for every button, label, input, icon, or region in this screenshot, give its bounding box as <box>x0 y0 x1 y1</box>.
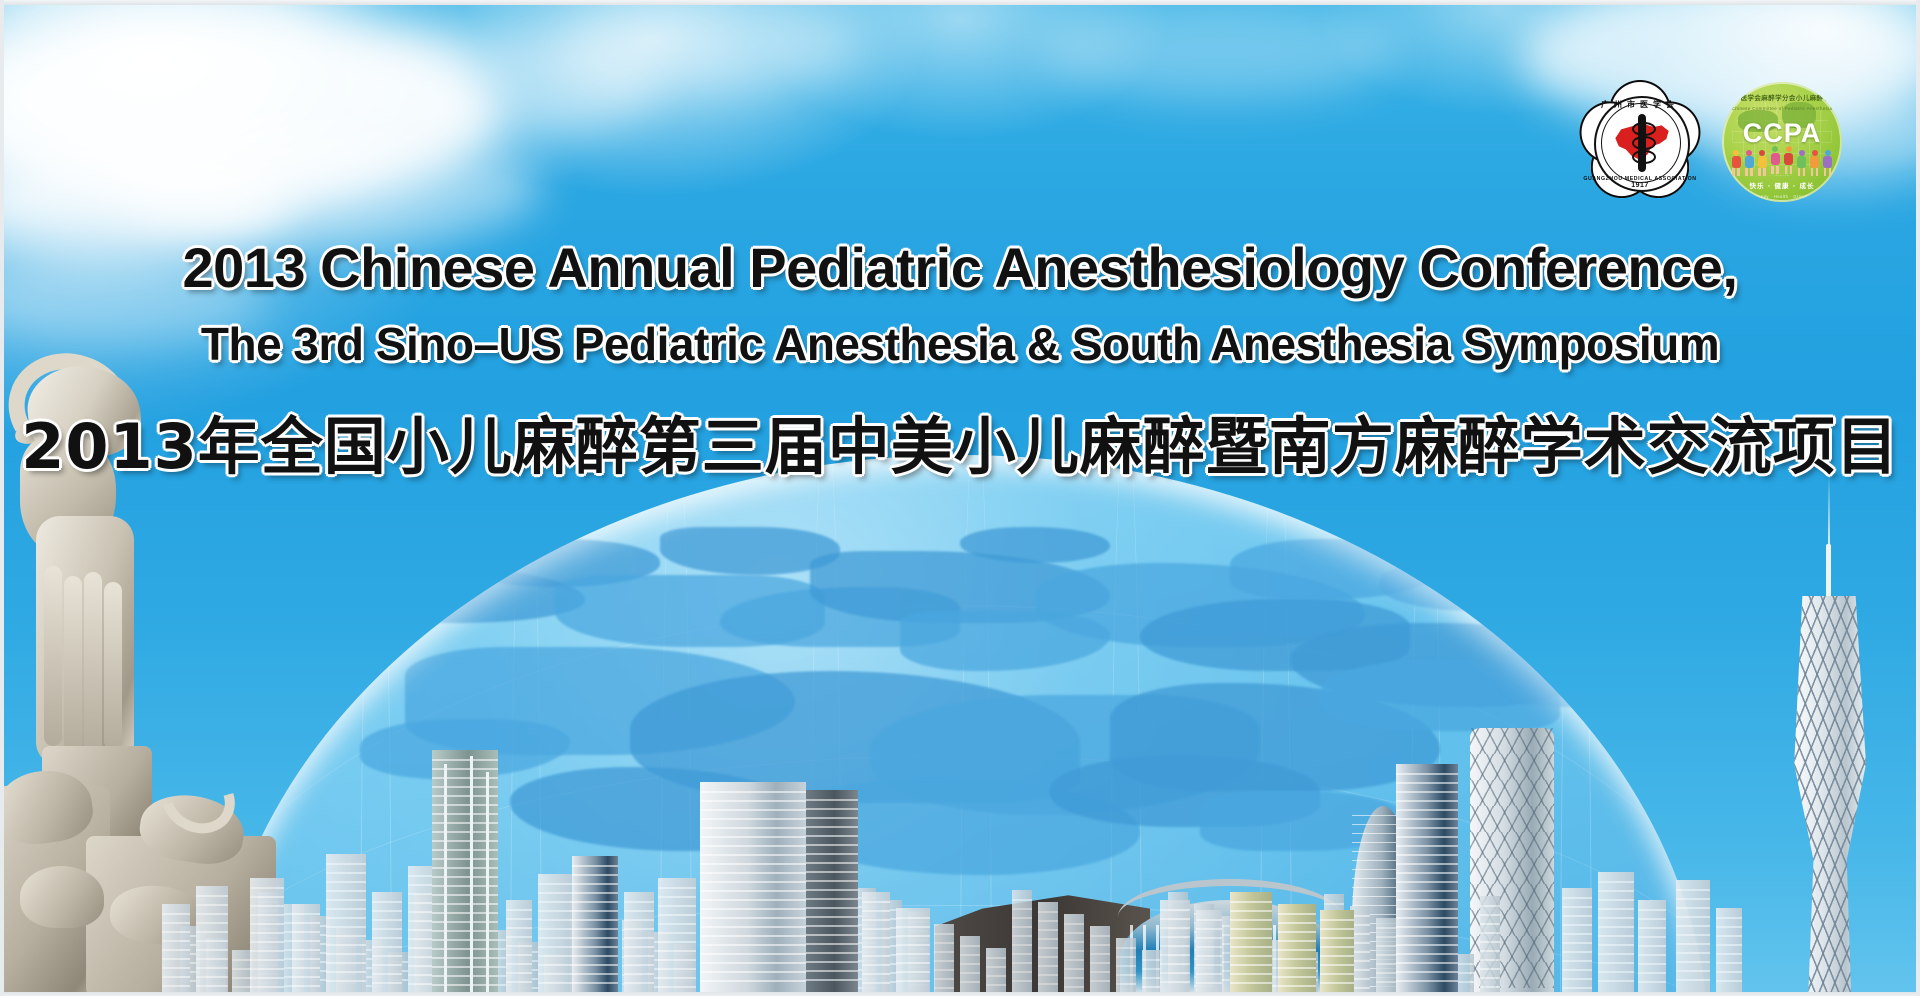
building-window-band <box>538 892 572 894</box>
building-window-band <box>196 976 228 978</box>
building-window-band <box>432 759 498 761</box>
building-window-band <box>232 968 252 970</box>
building-window-band <box>700 863 806 865</box>
building-window-band <box>1320 919 1354 921</box>
building-window-band <box>1638 954 1666 956</box>
building-window-band <box>1396 836 1458 838</box>
building-window-band <box>700 827 806 829</box>
building-window-band <box>1396 872 1458 874</box>
building-window-band <box>896 980 930 982</box>
building-window-band <box>896 944 930 946</box>
building-window-band <box>250 968 284 970</box>
building-window-band <box>1638 936 1666 938</box>
building-window-band <box>658 968 696 970</box>
building-window-band <box>1676 979 1710 981</box>
building-window-band <box>326 980 366 982</box>
building-window-band <box>572 973 618 975</box>
skyline-building <box>1598 872 1634 996</box>
building-window-band <box>806 889 858 891</box>
building-window-band <box>1396 818 1458 820</box>
small-ram <box>20 866 104 928</box>
building-window-band <box>896 935 930 937</box>
building-window-band <box>538 937 572 939</box>
building-window-band <box>1598 881 1634 883</box>
skyline-building <box>538 874 572 996</box>
building-window-band <box>572 982 618 984</box>
child-leg <box>1790 166 1793 174</box>
building-window-band <box>1230 919 1272 921</box>
building-window-band <box>658 977 696 979</box>
building-window-band <box>538 928 572 930</box>
building-window-band <box>1598 899 1634 901</box>
building-window-band <box>1142 968 1162 970</box>
building-window-band <box>1598 926 1634 928</box>
building-antenna <box>444 764 447 996</box>
building-window-band <box>372 964 402 966</box>
canton-tower-body <box>1792 596 1866 996</box>
skyline-building <box>960 936 980 996</box>
building-window-band <box>326 872 366 874</box>
building-window-band <box>986 957 1006 959</box>
building-window-band <box>862 910 890 912</box>
globe-continent <box>660 527 840 575</box>
building-window-band <box>1196 955 1222 957</box>
building-window-band <box>506 963 532 965</box>
building-window-band <box>862 964 890 966</box>
building-window-band <box>700 854 806 856</box>
building-window-band <box>1230 937 1272 939</box>
skyline-building <box>986 948 1006 996</box>
ifc-lattice-band <box>1470 754 1554 780</box>
building-window-band <box>232 959 252 961</box>
building-window-band <box>538 919 572 921</box>
building-window-band <box>1038 965 1058 967</box>
building-window-band <box>326 908 366 910</box>
building-window-band <box>538 973 572 975</box>
building-window-band <box>196 922 228 924</box>
building-window-band <box>862 928 890 930</box>
building-window-band <box>572 937 618 939</box>
child-body <box>1758 156 1767 168</box>
skyline-building <box>1090 926 1110 996</box>
children-holding-hands-icon <box>1730 146 1834 176</box>
building-window-band <box>1160 972 1190 974</box>
child-leg <box>1750 168 1753 176</box>
building-window-band <box>806 835 858 837</box>
building-window-band <box>658 941 696 943</box>
building-window-band <box>506 936 532 938</box>
building-window-band <box>1230 955 1272 957</box>
canton-tower-mast <box>1826 544 1831 604</box>
building-window-band <box>292 976 320 978</box>
building-window-band <box>1598 971 1634 973</box>
building-window-band <box>806 925 858 927</box>
child-body <box>1745 156 1754 168</box>
building-window-band <box>806 853 858 855</box>
building-window-band <box>1038 911 1058 913</box>
building-window-band <box>986 975 1006 977</box>
ram-fleece <box>64 576 82 751</box>
building-window-band <box>1396 773 1458 775</box>
building-window-band <box>934 969 954 971</box>
skyline-building <box>896 908 930 996</box>
building-window-band <box>1196 937 1222 939</box>
ifc-lattice-band <box>1470 728 1554 754</box>
child-figure <box>1769 146 1781 176</box>
building-window-band <box>1396 863 1458 865</box>
skyline-building <box>700 782 806 996</box>
building-window-band <box>1562 924 1592 926</box>
building-window-band <box>1562 933 1592 935</box>
skyline-building <box>1376 918 1396 996</box>
building-window-band <box>1160 927 1190 929</box>
building-window-band <box>1480 914 1500 916</box>
building-window-band <box>250 914 284 916</box>
building-window-band <box>658 986 696 988</box>
building-window-band <box>538 910 572 912</box>
building-window-band <box>250 923 284 925</box>
building-window-band <box>250 986 284 988</box>
building-window-band <box>1638 927 1666 929</box>
building-window-band <box>700 890 806 892</box>
building-window-band <box>1196 946 1222 948</box>
building-window-band <box>1396 944 1458 946</box>
building-window-band <box>1142 959 1162 961</box>
building-window-band <box>700 800 806 802</box>
ccpa-slogan-chinese: 快乐 · 健康 · 成长 <box>1722 180 1842 190</box>
building-window-band <box>1480 959 1500 961</box>
banner-left-edge <box>0 0 4 996</box>
building-window-band <box>1090 944 1110 946</box>
building-window-band <box>700 971 806 973</box>
building-window-band <box>624 973 654 975</box>
skyline-building <box>506 900 532 996</box>
building-window-band <box>1376 981 1396 983</box>
building-window-band <box>1196 919 1222 921</box>
building-window-band <box>934 942 954 944</box>
banner-top-edge <box>0 0 1920 5</box>
building-window-band <box>896 953 930 955</box>
building-window-band <box>1638 909 1666 911</box>
building-window-band <box>1064 986 1084 988</box>
building-window-band <box>862 901 890 903</box>
building-window-band <box>658 923 696 925</box>
skyline-building <box>1196 910 1222 996</box>
conference-title-english-line2: The 3rd Sino–US Pediatric Anesthesia & S… <box>0 318 1920 370</box>
building-window-band <box>1038 956 1058 958</box>
building-window-band <box>896 962 930 964</box>
child-leg <box>1811 168 1814 176</box>
building-window-band <box>1676 916 1710 918</box>
building-window-band <box>700 980 806 982</box>
building-window-band <box>1396 908 1458 910</box>
building-window-band <box>1116 983 1136 985</box>
building-window-band <box>250 959 284 961</box>
building-window-band <box>700 917 806 919</box>
building-window-band <box>1090 980 1110 982</box>
building-window-band <box>326 926 366 928</box>
building-window-band <box>1230 928 1272 930</box>
building-window-band <box>658 914 696 916</box>
conference-title-chinese: 2013年全国小儿麻醉第三届中美小儿麻醉暨南方麻醉学术交流项目 <box>0 412 1920 482</box>
building-window-band <box>1598 908 1634 910</box>
globe-continent <box>555 575 825 647</box>
building-window-band <box>806 880 858 882</box>
building-window-band <box>326 890 366 892</box>
globe-continent <box>1140 599 1410 671</box>
canton-tower <box>1768 526 1888 996</box>
building-window-band <box>326 899 366 901</box>
building-window-band <box>1142 977 1162 979</box>
skyline-building <box>862 892 890 996</box>
child-body <box>1771 153 1780 165</box>
building-window-band <box>162 940 190 942</box>
building-window-band <box>572 883 618 885</box>
building-window-band <box>700 881 806 883</box>
building-window-band <box>1562 897 1592 899</box>
building-window-band <box>1480 905 1500 907</box>
building-window-band <box>1376 972 1396 974</box>
building-window-band <box>862 973 890 975</box>
building-window-band <box>1064 959 1084 961</box>
skyline-building <box>1480 896 1500 996</box>
building-window-band <box>1716 980 1742 982</box>
building-window-band <box>1012 971 1032 973</box>
building-window-band <box>538 964 572 966</box>
building-window-band <box>700 872 806 874</box>
skyline-building <box>1064 914 1084 996</box>
building-window-band <box>1376 927 1396 929</box>
building-window-band <box>1012 917 1032 919</box>
building-window-band <box>250 941 284 943</box>
building-window-band <box>572 955 618 957</box>
building-window-band <box>1196 982 1222 984</box>
building-window-band <box>292 931 320 933</box>
logo-inner-circle <box>1601 103 1681 183</box>
building-window-band <box>700 935 806 937</box>
building-window-band <box>960 954 980 956</box>
building-window-band <box>1638 945 1666 947</box>
building-window-band <box>1562 906 1592 908</box>
building-window-band <box>1396 971 1458 973</box>
child-figure <box>1822 150 1834 176</box>
building-window-band <box>1598 917 1634 919</box>
building-window-band <box>1064 923 1084 925</box>
building-window-band <box>934 978 954 980</box>
building-window-band <box>960 972 980 974</box>
building-window-band <box>1376 954 1396 956</box>
building-window-band <box>538 982 572 984</box>
building-window-band <box>196 940 228 942</box>
building-window-band <box>658 905 696 907</box>
building-window-band <box>1562 951 1592 953</box>
building-window-band <box>700 899 806 901</box>
building-window-band <box>1480 950 1500 952</box>
building-window-band <box>1396 845 1458 847</box>
skyline-building <box>1278 904 1316 996</box>
building-window-band <box>700 845 806 847</box>
globe-continent <box>810 551 1110 623</box>
child-head <box>1786 146 1792 152</box>
building-window-band <box>506 927 532 929</box>
building-window-band <box>700 953 806 955</box>
building-window-band <box>372 910 402 912</box>
building-window-band <box>196 967 228 969</box>
building-window-band <box>1598 953 1634 955</box>
building-window-band <box>1278 940 1316 942</box>
building-window-band <box>1480 986 1500 988</box>
building-window-band <box>162 931 190 933</box>
skyline-building <box>1142 950 1162 996</box>
skyline-building <box>1638 900 1666 996</box>
building-window-band <box>1562 978 1592 980</box>
building-window-band <box>1320 964 1354 966</box>
building-window-band <box>162 913 190 915</box>
building-window-band <box>1638 981 1666 983</box>
building-window-band <box>1116 974 1136 976</box>
building-window-band <box>1160 936 1190 938</box>
gma-name-chinese: 广州市医学会 <box>1580 99 1700 110</box>
building-window-band <box>196 949 228 951</box>
building-window-band <box>572 910 618 912</box>
skyline-building <box>326 854 366 996</box>
building-window-band <box>806 934 858 936</box>
ram-fleece <box>84 572 102 752</box>
ccpa-logo: 中华医学会麻醉学分会小儿麻醉学组 Chinese Committee of Pe… <box>1722 82 1842 202</box>
building-window-band <box>1480 968 1500 970</box>
building-window-band <box>1598 962 1634 964</box>
building-window-band <box>326 881 366 883</box>
building-window-band <box>934 933 954 935</box>
building-window-band <box>292 967 320 969</box>
child-leg <box>1816 168 1819 176</box>
ifc-lattice-band <box>1470 806 1554 832</box>
building-window-band <box>1230 946 1272 948</box>
building-window-band <box>1716 926 1742 928</box>
building-window-band <box>986 984 1006 986</box>
building-window-band <box>806 907 858 909</box>
building-window-band <box>1396 809 1458 811</box>
building-window-band <box>1676 889 1710 891</box>
child-body <box>1823 156 1832 168</box>
building-window-band <box>1278 967 1316 969</box>
building-antenna <box>486 772 489 996</box>
building-window-band <box>1598 980 1634 982</box>
skyline-building <box>1562 888 1592 996</box>
child-figure <box>1783 146 1795 176</box>
building-window-band <box>1396 800 1458 802</box>
building-window-band <box>1562 915 1592 917</box>
building-window-band <box>658 959 696 961</box>
building-window-band <box>1012 953 1032 955</box>
building-window-band <box>1320 955 1354 957</box>
child-leg <box>1763 168 1766 176</box>
building-window-band <box>1376 936 1396 938</box>
building-window-band <box>806 817 858 819</box>
building-window-band <box>1142 986 1162 988</box>
building-window-band <box>806 952 858 954</box>
building-window-band <box>806 844 858 846</box>
building-window-band <box>624 964 654 966</box>
ccpa-slogan-english: Happy · Health · Growth <box>1722 194 1842 199</box>
building-window-band <box>196 904 228 906</box>
skyline-building <box>658 878 696 996</box>
skyline-building <box>572 856 618 996</box>
building-window-band <box>1116 956 1136 958</box>
building-window-band <box>896 971 930 973</box>
building-window-band <box>1716 953 1742 955</box>
child-figure <box>1730 150 1742 176</box>
gma-name-english: GUANGZHOU MEDICAL ASSOCIATION <box>1580 176 1700 182</box>
building-window-band <box>806 808 858 810</box>
building-window-band <box>1230 901 1272 903</box>
building-window-band <box>572 928 618 930</box>
building-window-band <box>326 863 366 865</box>
building-window-band <box>658 887 696 889</box>
building-window-band <box>1064 977 1084 979</box>
child-body <box>1810 156 1819 168</box>
building-window-band <box>1038 947 1058 949</box>
building-window-band <box>1230 910 1272 912</box>
globe-continent <box>1035 563 1365 647</box>
building-window-band <box>326 971 366 973</box>
building-window-band <box>700 791 806 793</box>
building-window-band <box>1278 976 1316 978</box>
building-window-band <box>326 953 366 955</box>
ccpa-name-chinese: 中华医学会麻醉学分会小儿麻醉学组 <box>1722 92 1842 102</box>
building-window-band <box>1676 907 1710 909</box>
building-window-band <box>372 928 402 930</box>
skyline-building <box>1012 890 1032 996</box>
building-window-band <box>986 966 1006 968</box>
building-window-band <box>1160 981 1190 983</box>
banner-right-edge <box>1916 0 1920 996</box>
child-leg <box>1732 168 1735 176</box>
building-window-band <box>1116 965 1136 967</box>
building-window-band <box>624 955 654 957</box>
child-leg <box>1771 166 1774 174</box>
building-window-band <box>658 950 696 952</box>
building-window-band <box>934 951 954 953</box>
building-window-band <box>572 892 618 894</box>
building-window-band <box>1012 944 1032 946</box>
ram-fleece <box>44 566 62 746</box>
building-window-band <box>1320 928 1354 930</box>
building-window-band <box>506 945 532 947</box>
skyline-building <box>196 886 228 996</box>
child-leg <box>1803 168 1806 176</box>
building-window-band <box>1320 982 1354 984</box>
building-window-band <box>1716 962 1742 964</box>
building-window-band <box>1480 977 1500 979</box>
skyline-building <box>250 878 284 996</box>
building-window-band <box>1396 917 1458 919</box>
building-window-band <box>806 826 858 828</box>
logo-group: 广州市医学会 1917 GUANGZHOU MEDICAL ASSOCIATIO… <box>1580 82 1842 202</box>
building-window-band <box>372 982 402 984</box>
building-window-band <box>624 919 654 921</box>
building-window-band <box>1638 963 1666 965</box>
globe-continent <box>960 527 1110 563</box>
building-window-band <box>506 972 532 974</box>
child-head <box>1772 146 1778 152</box>
skyline-building <box>1716 908 1742 996</box>
building-window-band <box>196 931 228 933</box>
skyline-building <box>806 790 858 996</box>
building-window-band <box>162 922 190 924</box>
guangzhou-medical-association-logo: 广州市医学会 1917 GUANGZHOU MEDICAL ASSOCIATIO… <box>1580 82 1700 202</box>
ifc-lattice-band <box>1470 858 1554 884</box>
